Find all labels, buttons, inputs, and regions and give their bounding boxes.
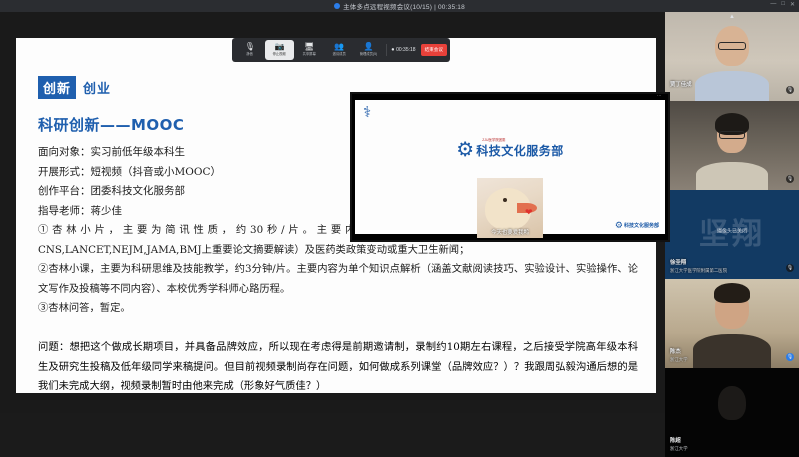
participants-icon: 👥: [334, 43, 344, 51]
slide-title: 科研创新——MOOC: [38, 114, 184, 135]
video-brand-corner: ⚙ 科技文化服务部: [615, 221, 659, 230]
participant-rail[interactable]: ▲ 贾丁佳成 🎙 🎙 坚翔 摄像头已关闭 徐圣翔 浙江大学医学院附属第: [665, 12, 799, 413]
toolbar-label: 停止视频: [273, 52, 286, 57]
participant-tile[interactable]: 陈杰 浙江大学 🎙: [665, 279, 799, 368]
participant-org: 浙江大学: [670, 357, 688, 363]
toolbar-label: 静音: [247, 52, 254, 57]
brand-name: 科技文化服务部: [476, 142, 564, 159]
microphone-icon: 🎙: [245, 43, 255, 51]
participant-video: [665, 279, 799, 368]
participant-org: 浙江大学医学院附属第二医院: [670, 268, 727, 274]
toolbar-label: 管理成员(5): [360, 52, 377, 57]
toolbar-label: 共享屏幕: [303, 52, 316, 57]
duck-eye-shape: [503, 198, 507, 202]
toolbar-manage-members-button[interactable]: 👤 管理成员(5): [354, 40, 384, 60]
torso-shape: [695, 71, 769, 101]
toolbar-divider: [386, 44, 387, 56]
participant-name: 陈杰: [670, 347, 681, 355]
brand-mark-icon: ⚙: [456, 140, 474, 160]
slide-paragraph: ③杏林问答，暂定。: [38, 299, 638, 319]
participant-tile[interactable]: ▲ 贾丁佳成 🎙: [665, 12, 799, 101]
participant-name: 徐圣翔: [670, 258, 686, 266]
toolbar-label: 邀请成员: [332, 52, 345, 57]
close-icon[interactable]: ✕: [790, 1, 795, 8]
duck-caption: 今天也要爱我鸭: [477, 228, 543, 236]
meeting-toolbar[interactable]: 🎙 静音 📷 停止视频 🖥 共享屏幕 👥 邀请成员 👤 管理成员(: [232, 38, 450, 62]
window-controls: — □ ✕: [770, 1, 795, 8]
glasses-shape: [719, 131, 745, 139]
maximize-icon[interactable]: □: [781, 1, 785, 8]
shared-screen-stage: 创新 创业 科研创新——MOOC 面向对象：实习前低年级本科生 开展形式：短视频…: [0, 12, 665, 413]
window-title-bar: 主体多点远程视频会议(10/15) | 00:35:18 — □ ✕: [0, 0, 799, 12]
toolbar-video-button[interactable]: 📷 停止视频: [265, 40, 295, 60]
end-meeting-button[interactable]: 结束会议: [421, 44, 447, 56]
slide-badge-innovation: 创新: [38, 76, 76, 99]
participant-tile[interactable]: 坚翔 摄像头已关闭 徐圣翔 浙江大学医学院附属第二医院 🎙: [665, 190, 799, 279]
participant-name: 陈超: [670, 436, 681, 444]
mic-muted-icon[interactable]: 🎙: [786, 175, 794, 183]
screen-share-icon: 🖥: [304, 43, 314, 51]
slide-paragraph: ②杏林小课，主要为科研思维及技能教学，约3分钟/片。主要内容为单个知识点解析（涵…: [38, 260, 638, 299]
slide-header: 创新 创业: [38, 76, 111, 99]
collapse-rail-icon[interactable]: ▲: [729, 14, 735, 20]
slide-badge-entrepreneurship: 创业: [83, 78, 111, 97]
toolbar-mute-button[interactable]: 🎙 静音: [235, 40, 265, 60]
video-frame: ⚕ ⚙ ZJU医学院团委 科技文化服务部 ❤ 今天也要爱我鸭: [355, 100, 665, 234]
embedded-video[interactable]: ⋯ ⚕ ⚙ ZJU医学院团委 科技文化服务部 ❤: [350, 92, 670, 242]
torso-shape: [696, 162, 768, 190]
video-controls-icon[interactable]: ⋯: [657, 93, 662, 98]
manage-members-icon: 👤: [364, 43, 374, 51]
toolbar-invite-button[interactable]: 👥 邀请成员: [324, 40, 354, 60]
presentation-slide: 创新 创业 科研创新——MOOC 面向对象：实习前低年级本科生 开展形式：短视频…: [16, 38, 656, 393]
head-shape: [718, 386, 746, 420]
participant-video: [665, 101, 799, 190]
mic-active-icon[interactable]: 🎙: [786, 353, 794, 361]
participant-name: 贾丁佳成: [670, 80, 692, 88]
meeting-timer: ⏺ 00:35:18: [389, 47, 419, 53]
shared-content: 创新 创业 科研创新——MOOC 面向对象：实习前低年级本科生 开展形式：短视频…: [0, 12, 665, 413]
hair-shape: [714, 283, 750, 303]
duck-photo: ❤ 今天也要爱我鸭: [477, 178, 543, 238]
meeting-window: 主体多点远程视频会议(10/15) | 00:35:18 — □ ✕ 创新 创业…: [0, 0, 799, 413]
brand-mark-small-icon: ⚙: [615, 221, 623, 230]
camera-off-label: 摄像头已关闭: [717, 227, 747, 234]
torso-shape: [693, 334, 771, 368]
camera-icon: 📷: [275, 43, 285, 51]
brand-name-small: 科技文化服务部: [624, 222, 659, 229]
heart-icon: ❤: [525, 208, 533, 217]
mic-muted-icon[interactable]: 🎙: [786, 86, 794, 94]
mic-muted-icon[interactable]: 🎙: [786, 264, 794, 272]
timer-value: 00:35:18: [396, 47, 415, 53]
video-brand-lockup: ⚙ ZJU医学院团委 科技文化服务部: [456, 140, 563, 160]
app-logo-icon: [334, 3, 340, 9]
participant-tile[interactable]: 🎙: [665, 101, 799, 190]
medical-school-logo-icon: ⚕: [359, 103, 375, 123]
participant-org: 浙江大学: [670, 446, 688, 452]
minimize-icon[interactable]: —: [770, 1, 776, 8]
toolbar-share-button[interactable]: 🖥 共享屏幕: [294, 40, 324, 60]
record-icon: ⏺: [392, 47, 395, 53]
meeting-title: 主体多点远程视频会议(10/15) | 00:35:18: [343, 1, 465, 11]
slide-question-paragraph: 问题：想把这个做成长期项目，并具备品牌效应，所以现在考虑得是前期邀请制，录制约1…: [38, 338, 638, 397]
glasses-shape: [718, 42, 746, 50]
brand-sub-text: ZJU医学院团委: [482, 137, 505, 142]
